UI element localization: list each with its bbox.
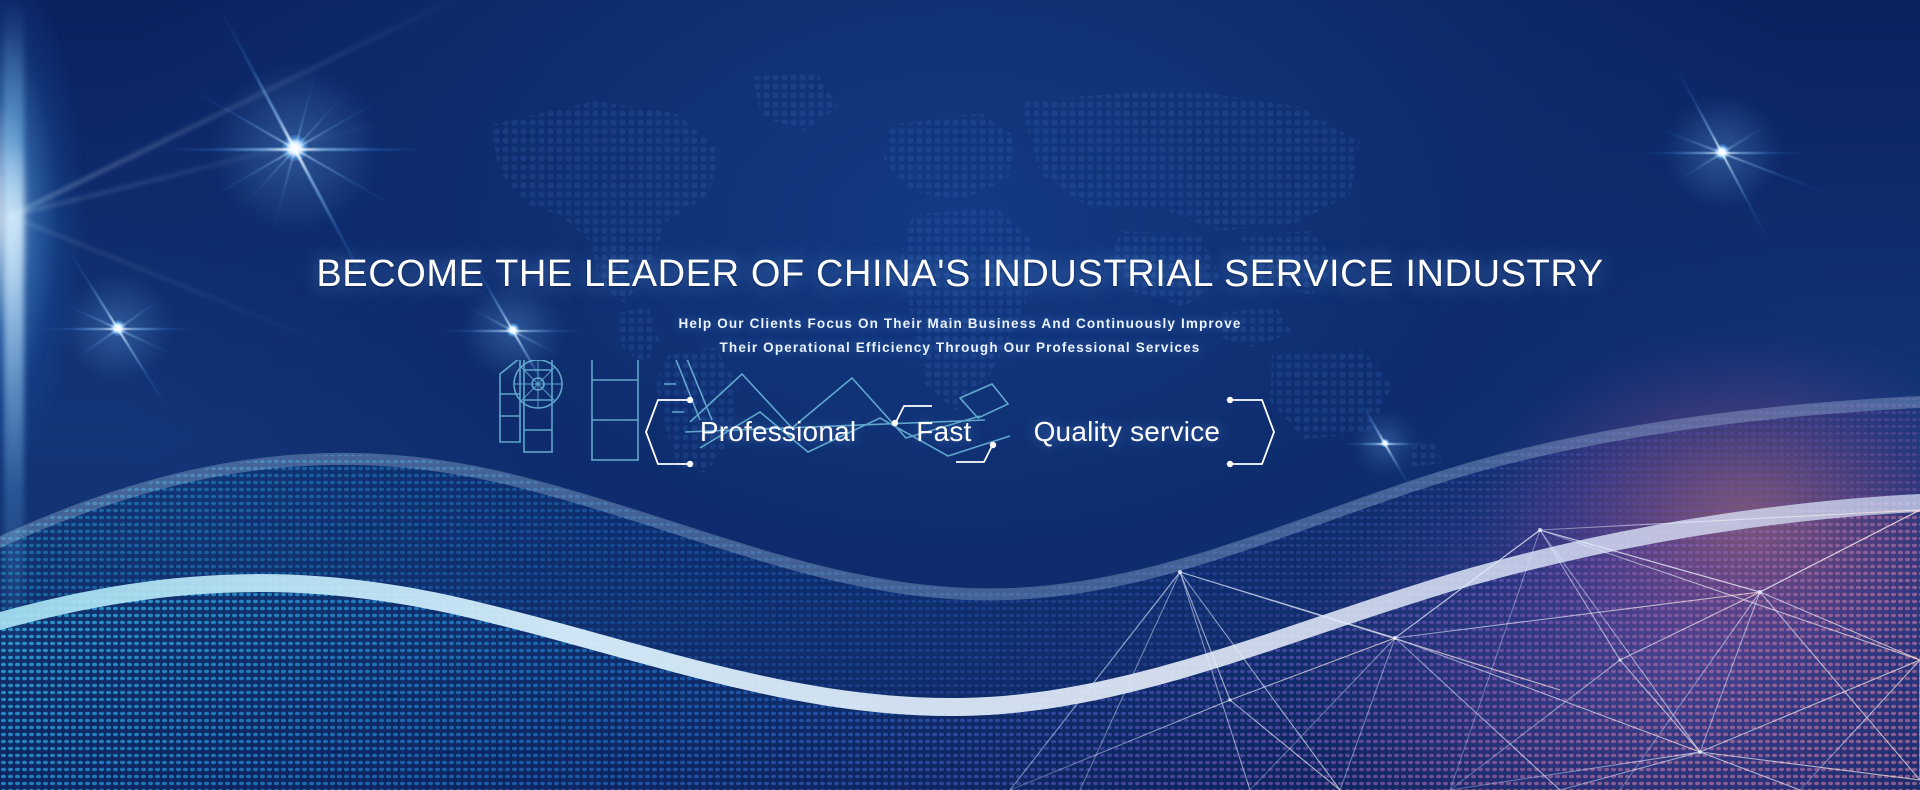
feature-label-professional: Professional [700, 416, 856, 448]
hero-banner: BECOME THE LEADER OF CHINA'S INDUSTRIAL … [0, 0, 1920, 790]
hexagon-bracket-right-icon [1226, 396, 1276, 468]
hexagon-bracket-left-icon [644, 396, 694, 468]
page-title: BECOME THE LEADER OF CHINA'S INDUSTRIAL … [0, 253, 1920, 296]
feature-list: Professional Fast Quality service [0, 396, 1920, 468]
feature-item-professional[interactable]: Professional [700, 396, 856, 468]
feature-item-fast[interactable]: Fast [916, 396, 971, 468]
corner-mark-bottom-right-icon [954, 440, 998, 466]
subtitle-line-1: Help Our Clients Focus On Their Main Bus… [0, 316, 1920, 331]
banner-content: BECOME THE LEADER OF CHINA'S INDUSTRIAL … [0, 0, 1920, 790]
feature-label-quality-service: Quality service [1034, 416, 1221, 448]
feature-item-quality-service[interactable]: Quality service [1034, 396, 1221, 468]
subtitle-line-2: Their Operational Efficiency Through Our… [0, 340, 1920, 355]
corner-mark-top-left-icon [890, 402, 934, 428]
